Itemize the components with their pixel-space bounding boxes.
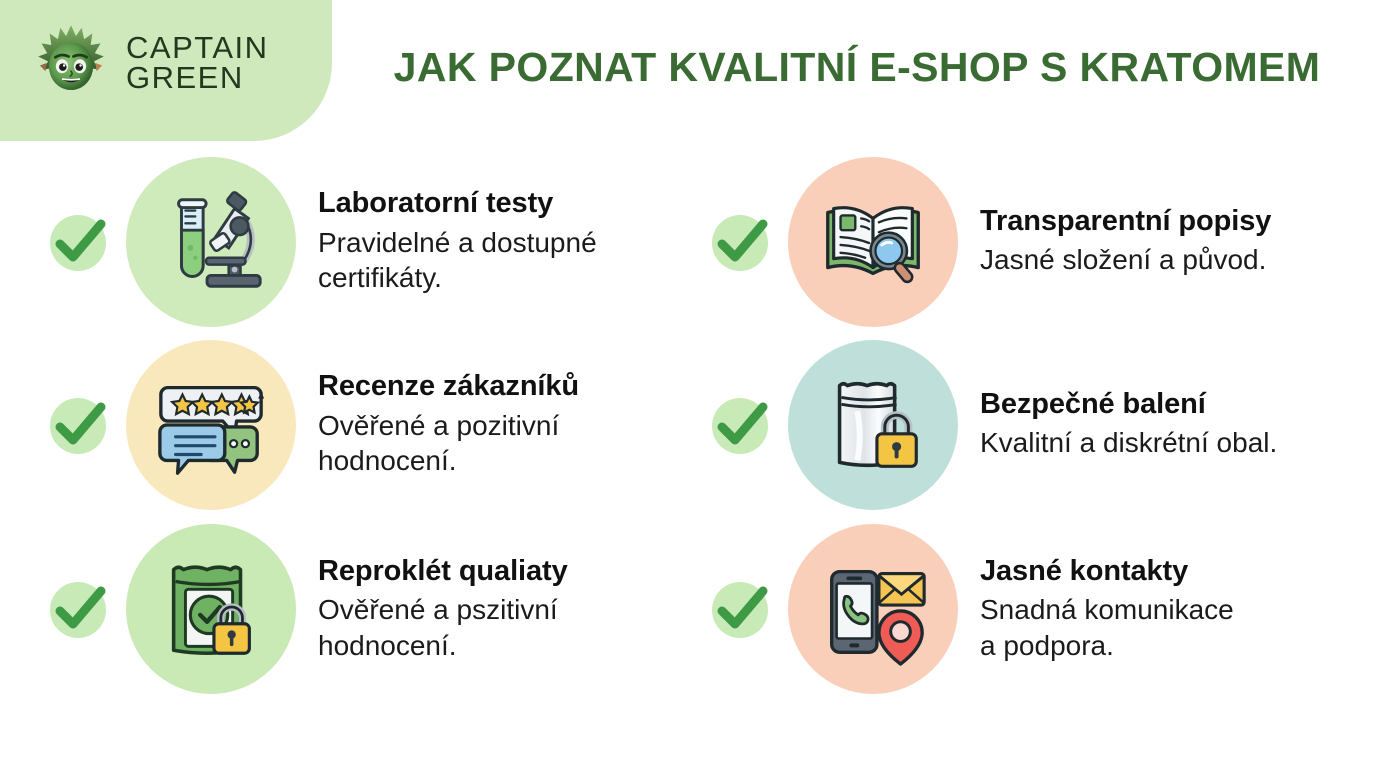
header: CAPTAIN GREEN JAK POZNAT KVALITNÍ E-SHOP… bbox=[0, 0, 1376, 148]
check-mark-icon bbox=[48, 578, 110, 640]
benefit-description: Ověřené a pszitivní hodnocení. bbox=[318, 592, 568, 663]
brand-logo: CAPTAIN GREEN bbox=[30, 22, 269, 104]
open-book-magnifier-icon bbox=[814, 183, 932, 301]
benefit-text-customer-reviews: Recenze zákazníků Ověřené a pozitivní ho… bbox=[318, 370, 579, 478]
benefit-description: Ověřené a pozitivní hodnocení. bbox=[318, 408, 579, 479]
brand-name-line2: GREEN bbox=[126, 63, 269, 93]
benefit-item-transparent-descriptions: Transparentní popisy Jasné složení a pův… bbox=[688, 150, 1376, 333]
benefit-item-quality-guarantee: Reproklét qualiaty Ověřené a pszitivní h… bbox=[0, 516, 688, 702]
benefit-item-safe-packaging: Bezpečné balení Kvalitní a diskrétní oba… bbox=[688, 333, 1376, 516]
benefit-description: Jasné složení a původ. bbox=[980, 242, 1271, 278]
green-pouch-check-padlock-icon bbox=[152, 550, 270, 668]
benefit-item-clear-contacts: Jasné kontakty Snadná komunikace a podpo… bbox=[688, 516, 1376, 702]
check-mark-icon bbox=[48, 394, 110, 456]
icon-circle-customer-reviews bbox=[126, 340, 296, 510]
benefit-item-customer-reviews: Recenze zákazníků Ověřené a pozitivní ho… bbox=[0, 333, 688, 516]
page-title: JAK POZNAT KVALITNÍ E-SHOP S KRATOMEM bbox=[362, 44, 1352, 91]
benefit-text-transparent-descriptions: Transparentní popisy Jasné složení a pův… bbox=[980, 205, 1271, 278]
benefit-title: Recenze zákazníků bbox=[318, 370, 579, 403]
icon-circle-transparent-descriptions bbox=[788, 157, 958, 327]
benefit-description: Snadná komunikace a podpora. bbox=[980, 592, 1234, 663]
benefit-title: Transparentní popisy bbox=[980, 205, 1271, 238]
phone-envelope-pin-icon bbox=[814, 550, 932, 668]
benefit-title: Reproklét qualiaty bbox=[318, 555, 568, 588]
benefit-item-lab-tests: Laboratorní testy Pravidelné a dostupné … bbox=[0, 150, 688, 333]
brand-name-line1: CAPTAIN bbox=[126, 33, 269, 63]
brand-wordmark: CAPTAIN GREEN bbox=[126, 33, 269, 93]
benefit-title: Jasné kontakty bbox=[980, 555, 1234, 588]
captain-green-mascot-icon bbox=[30, 22, 112, 104]
star-rating-chat-bubbles-icon bbox=[152, 366, 270, 484]
icon-circle-safe-packaging bbox=[788, 340, 958, 510]
benefit-description: Pravidelné a dostupné certifikáty. bbox=[318, 225, 597, 296]
benefit-title: Laboratorní testy bbox=[318, 187, 597, 220]
benefit-description: Kvalitní a diskrétní obal. bbox=[980, 425, 1277, 461]
benefit-text-clear-contacts: Jasné kontakty Snadná komunikace a podpo… bbox=[980, 555, 1234, 663]
check-mark-icon bbox=[48, 211, 110, 273]
icon-circle-clear-contacts bbox=[788, 524, 958, 694]
check-mark-icon bbox=[710, 394, 772, 456]
benefit-title: Bezpečné balení bbox=[980, 388, 1277, 421]
sealed-pouch-padlock-icon bbox=[814, 366, 932, 484]
check-mark-icon bbox=[710, 211, 772, 273]
benefits-grid: Laboratorní testy Pravidelné a dostupné … bbox=[0, 150, 1376, 710]
benefit-text-safe-packaging: Bezpečné balení Kvalitní a diskrétní oba… bbox=[980, 388, 1277, 461]
icon-circle-lab-tests bbox=[126, 157, 296, 327]
check-mark-icon bbox=[710, 578, 772, 640]
benefit-text-quality-guarantee: Reproklét qualiaty Ověřené a pszitivní h… bbox=[318, 555, 568, 663]
icon-circle-quality-guarantee bbox=[126, 524, 296, 694]
benefit-text-lab-tests: Laboratorní testy Pravidelné a dostupné … bbox=[318, 187, 597, 295]
microscope-test-tube-icon bbox=[152, 183, 270, 301]
